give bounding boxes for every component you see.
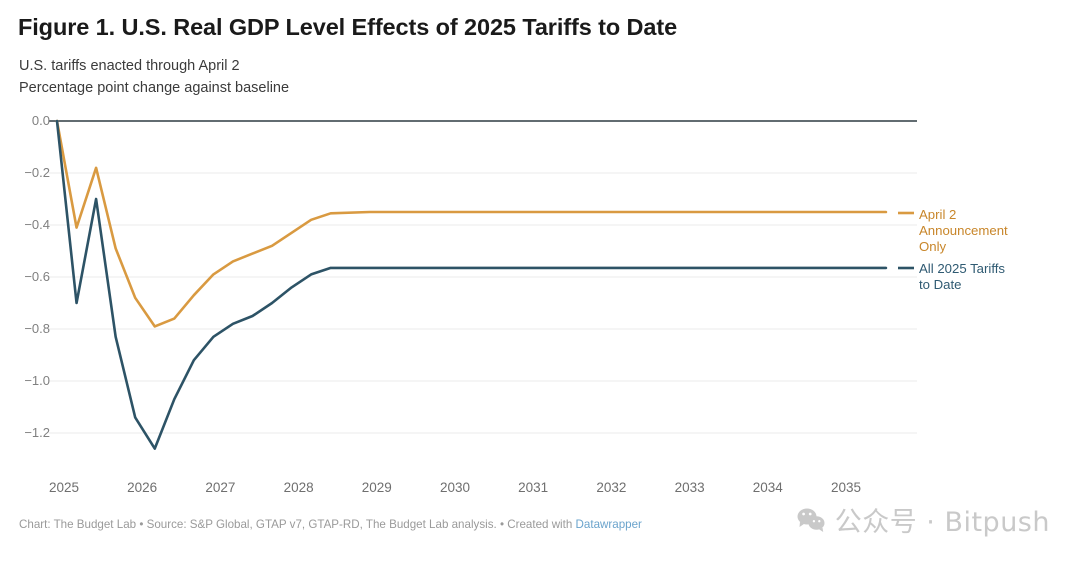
watermark-text: 公众号 · Bitpush [835, 500, 1050, 539]
wechat-icon [796, 507, 826, 533]
figure-container: Figure 1. U.S. Real GDP Level Effects of… [0, 0, 1080, 568]
legend-series-all-2025: All 2025 Tariffs to Date [919, 261, 1029, 293]
y-tick-label: −0.2 [8, 165, 50, 180]
x-tick-label: 2029 [347, 480, 407, 495]
series-line-0 [57, 121, 886, 326]
x-tick-label: 2035 [816, 480, 876, 495]
chart-plot-area: 0.0−0.2−0.4−0.6−0.8−1.0−1.2 202520262027… [0, 0, 1080, 568]
chart-footer: Chart: The Budget Lab • Source: S&P Glob… [19, 518, 642, 531]
x-tick-label: 2028 [269, 480, 329, 495]
y-tick-label: −0.8 [8, 321, 50, 336]
y-tick-label: −0.4 [8, 217, 50, 232]
x-tick-label: 2030 [425, 480, 485, 495]
legend-series-april2: April 2 Announcement Only [919, 207, 1029, 256]
y-tick-label: −0.6 [8, 269, 50, 284]
x-tick-label: 2025 [34, 480, 94, 495]
footer-credit-text: Chart: The Budget Lab • Source: S&P Glob… [19, 518, 576, 531]
x-tick-label: 2032 [581, 480, 641, 495]
x-tick-label: 2034 [738, 480, 798, 495]
x-tick-label: 2033 [660, 480, 720, 495]
datawrapper-link[interactable]: Datawrapper [576, 518, 642, 531]
x-tick-label: 2026 [112, 480, 172, 495]
watermark: 公众号 · Bitpush [796, 500, 1050, 539]
y-tick-label: −1.0 [8, 373, 50, 388]
y-tick-label: −1.2 [8, 425, 50, 440]
y-tick-label: 0.0 [8, 113, 50, 128]
x-tick-label: 2031 [503, 480, 563, 495]
series-line-1 [57, 121, 886, 449]
x-tick-label: 2027 [190, 480, 250, 495]
